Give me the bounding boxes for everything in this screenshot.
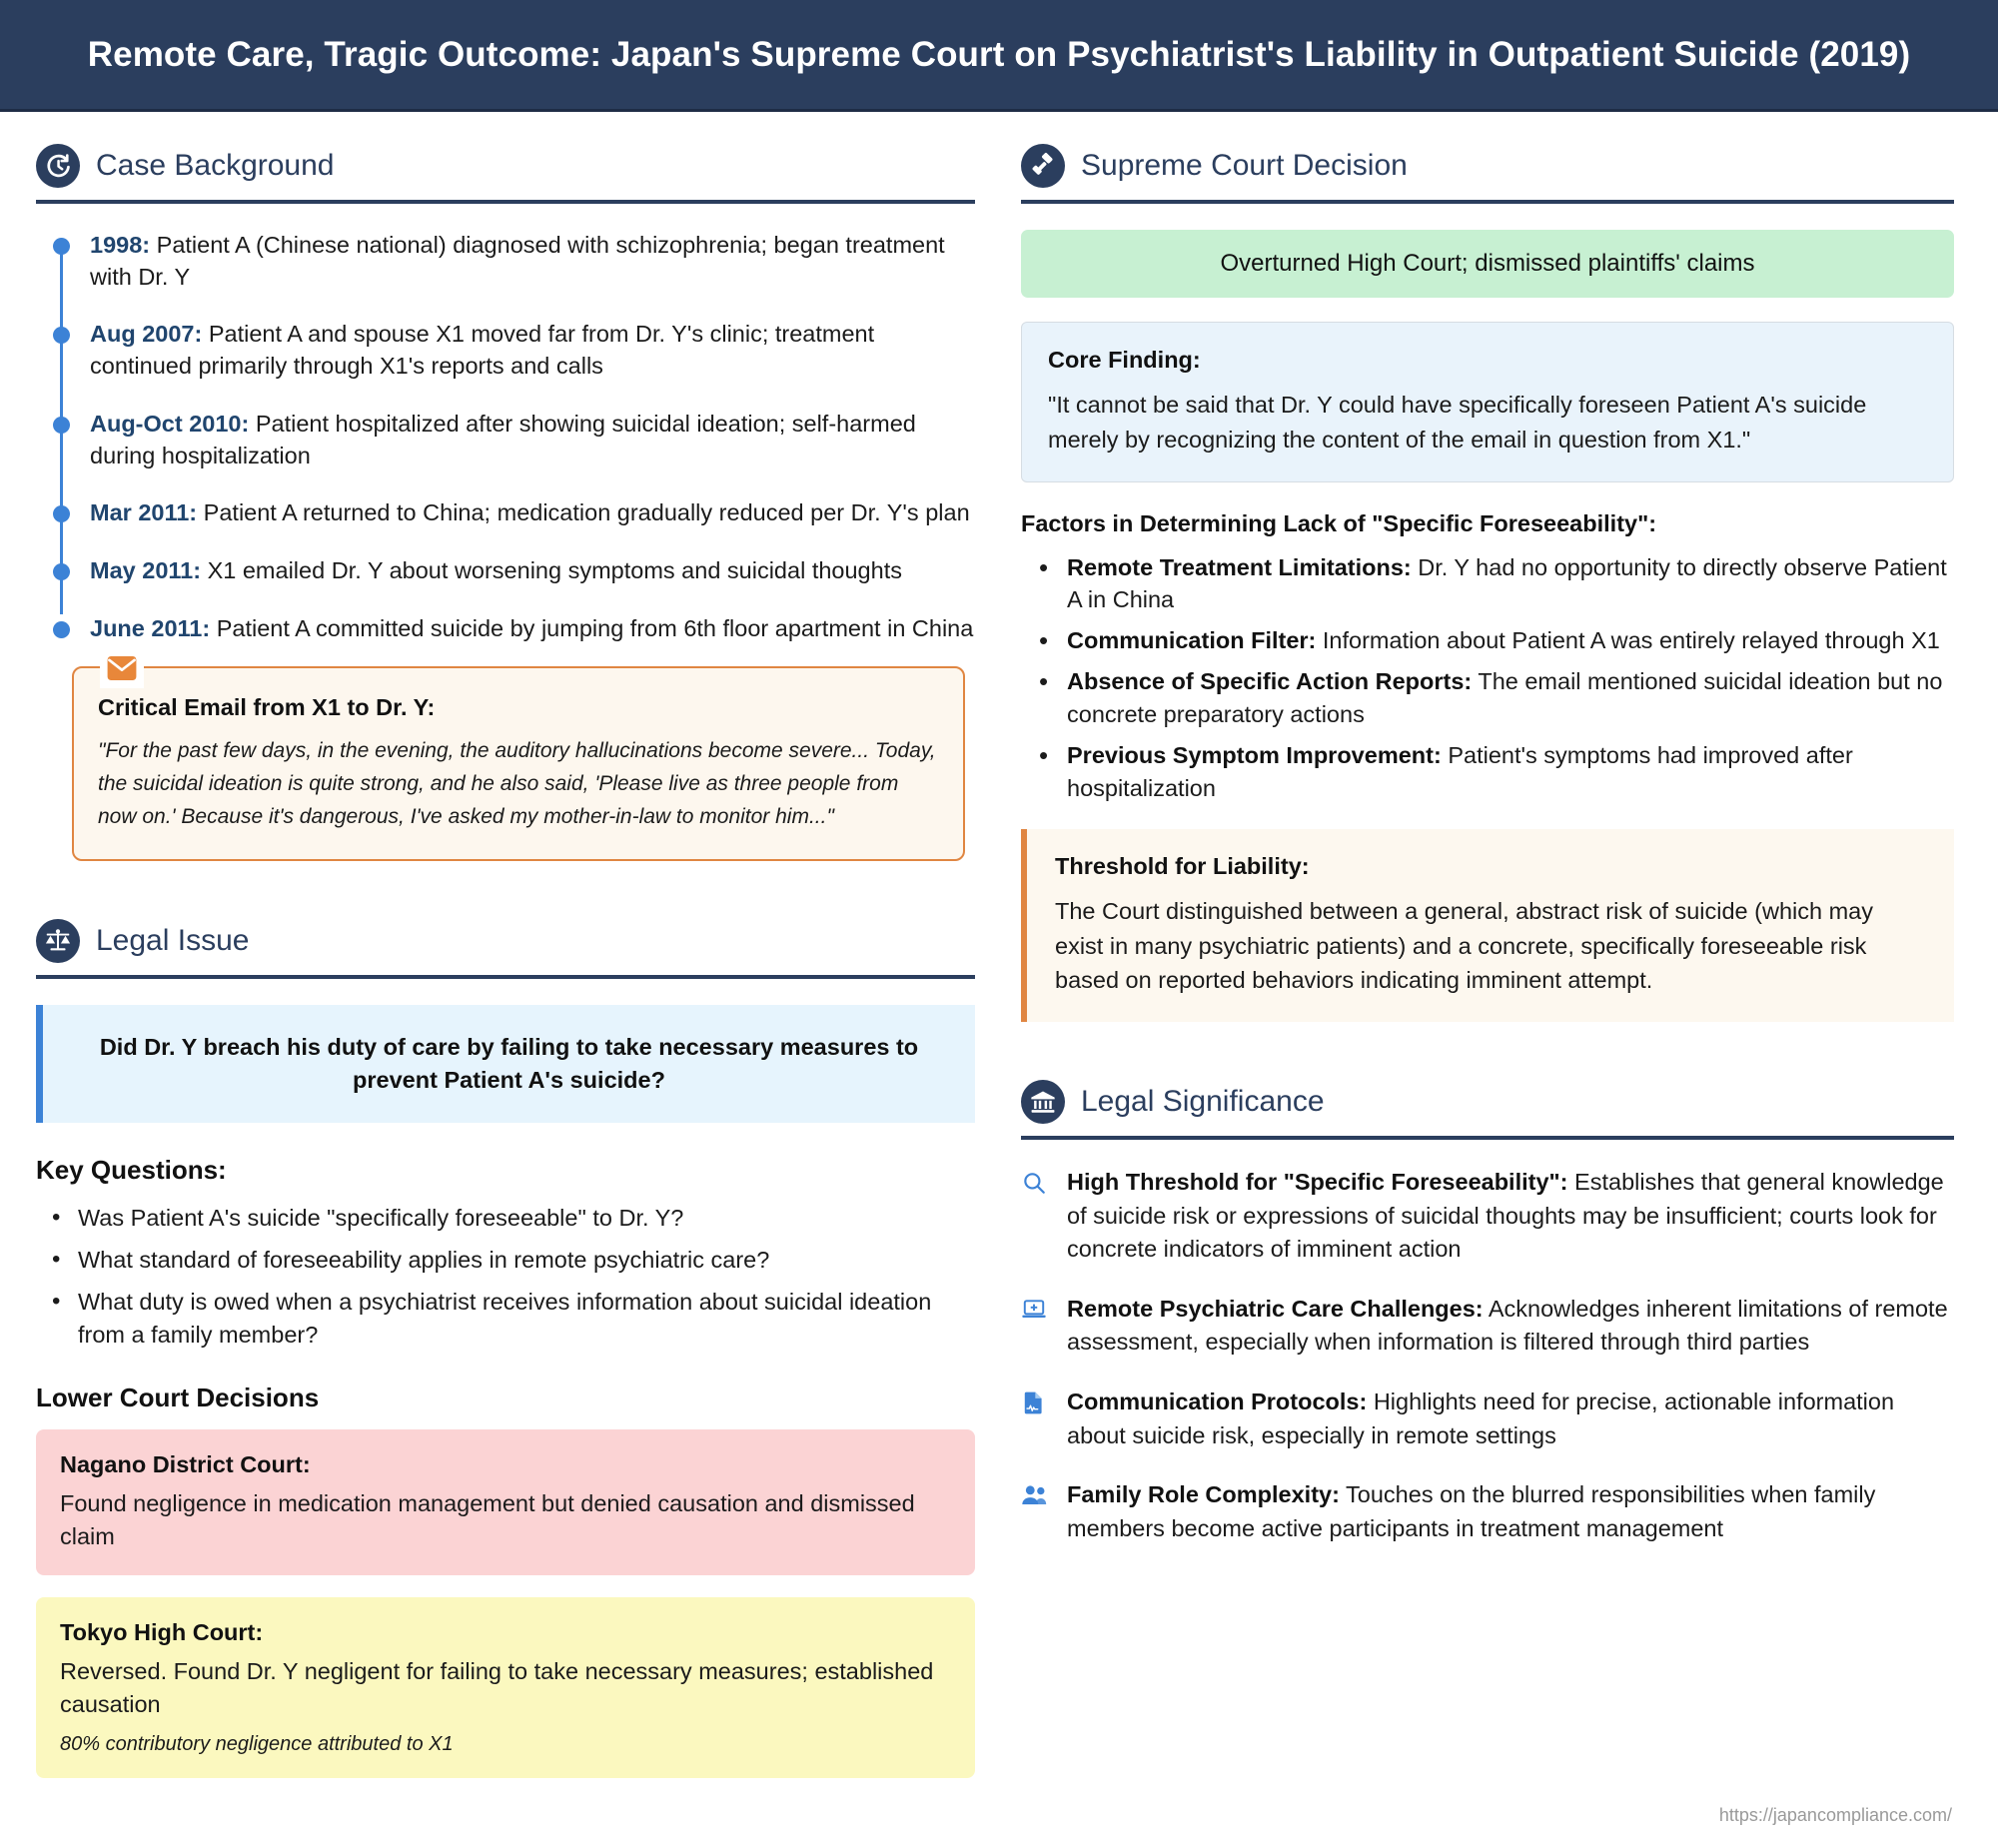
section-divider-legal-issue [36, 975, 975, 979]
lower-court-card-nagano: Nagano District Court: Found negligence … [36, 1429, 975, 1575]
case-timeline: 1998: Patient A (Chinese national) diagn… [46, 230, 975, 644]
left-column: Case Background 1998: Patient A (Chinese… [0, 112, 1011, 1800]
list-item: Previous Symptom Improvement: Patient's … [1035, 739, 1954, 805]
list-item: Was Patient A's suicide "specifically fo… [48, 1202, 975, 1235]
court-decision-text: Found negligence in medication managemen… [60, 1487, 951, 1553]
timeline-text: Patient A and spouse X1 moved far from D… [90, 321, 874, 379]
timeline-date: May 2011: [90, 557, 201, 583]
core-finding-title: Core Finding: [1048, 347, 1927, 374]
significance-text: Remote Psychiatric Care Challenges: Ackn… [1067, 1293, 1954, 1360]
section-header-legal-significance: Legal Significance [1021, 1080, 1954, 1124]
section-divider-legal-significance [1021, 1136, 1954, 1140]
timeline-date: June 2011: [90, 615, 210, 641]
key-questions-list: Was Patient A's suicide "specifically fo… [48, 1202, 975, 1352]
threshold-for-liability-box: Threshold for Liability: The Court disti… [1021, 829, 1954, 1022]
file-medical-icon [1021, 1386, 1051, 1452]
history-clock-icon [36, 144, 80, 188]
significance-name: Family Role Complexity: [1067, 1481, 1340, 1507]
laptop-medical-icon [1021, 1293, 1051, 1360]
threshold-text: The Court distinguished between a genera… [1055, 894, 1926, 998]
key-questions-heading: Key Questions: [36, 1155, 975, 1186]
verdict-banner: Overturned High Court; dismissed plainti… [1021, 230, 1954, 298]
section-divider-supreme-court [1021, 200, 1954, 204]
factor-name: Previous Symptom Improvement: [1067, 742, 1442, 768]
critical-email-title: Critical Email from X1 to Dr. Y: [98, 694, 937, 721]
factor-name: Communication Filter: [1067, 627, 1316, 653]
factors-heading: Factors in Determining Lack of "Specific… [1021, 510, 1954, 537]
magnifier-icon [1021, 1166, 1051, 1267]
footer-source-url: https://japancompliance.com/ [1719, 1805, 1952, 1826]
section-header-supreme-court: Supreme Court Decision [1021, 144, 1954, 188]
significance-name: Remote Psychiatric Care Challenges: [1067, 1296, 1484, 1322]
court-decision-text: Reversed. Found Dr. Y negligent for fail… [60, 1655, 951, 1721]
section-title-supreme-court: Supreme Court Decision [1081, 149, 1408, 183]
significance-text: Family Role Complexity: Touches on the b… [1067, 1478, 1954, 1545]
timeline-date: 1998: [90, 232, 150, 258]
list-item: High Threshold for "Specific Foreseeabil… [1021, 1166, 1954, 1267]
threshold-title: Threshold for Liability: [1055, 853, 1926, 880]
significance-name: Communication Protocols: [1067, 1388, 1367, 1414]
users-icon [1021, 1478, 1051, 1545]
two-column-body: Case Background 1998: Patient A (Chinese… [0, 112, 1998, 1800]
core-finding-box: Core Finding: "It cannot be said that Dr… [1021, 322, 1954, 482]
legal-significance-list: High Threshold for "Specific Foreseeabil… [1021, 1166, 1954, 1545]
significance-name: High Threshold for "Specific Foreseeabil… [1067, 1169, 1568, 1195]
spacer [1021, 1022, 1954, 1080]
section-header-legal-issue: Legal Issue [36, 919, 975, 963]
significance-text: High Threshold for "Specific Foreseeabil… [1067, 1166, 1954, 1267]
infographic-page: Remote Care, Tragic Outcome: Japan's Sup… [0, 0, 1998, 1848]
timeline-item: June 2011: Patient A committed suicide b… [90, 613, 975, 645]
section-header-case-background: Case Background [36, 144, 975, 188]
court-name: Tokyo High Court: [60, 1619, 951, 1646]
section-title-case-background: Case Background [96, 149, 334, 183]
list-item: Family Role Complexity: Touches on the b… [1021, 1478, 1954, 1545]
scales-of-justice-icon [36, 919, 80, 963]
factor-name: Absence of Specific Action Reports: [1067, 668, 1472, 694]
section-divider-case-background [36, 200, 975, 204]
legal-issue-question-box: Did Dr. Y breach his duty of care by fai… [36, 1005, 975, 1123]
timeline-item: May 2011: X1 emailed Dr. Y about worseni… [90, 555, 975, 587]
list-item: Communication Filter: Information about … [1035, 624, 1954, 657]
timeline-item: Aug 2007: Patient A and spouse X1 moved … [90, 319, 975, 382]
timeline-text: Patient A committed suicide by jumping f… [210, 615, 973, 641]
court-decision-note: 80% contributory negligence attributed t… [60, 1733, 951, 1756]
list-item: What duty is owed when a psychiatrist re… [48, 1286, 975, 1352]
section-title-legal-significance: Legal Significance [1081, 1085, 1325, 1119]
timeline-item: 1998: Patient A (Chinese national) diagn… [90, 230, 975, 293]
timeline-date: Aug 2007: [90, 321, 202, 347]
critical-email-callout: Critical Email from X1 to Dr. Y: "For th… [72, 666, 965, 861]
timeline-item: Aug-Oct 2010: Patient hospitalized after… [90, 409, 975, 471]
significance-text: Communication Protocols: Highlights need… [1067, 1386, 1954, 1452]
bank-building-icon [1021, 1080, 1065, 1124]
factor-name: Remote Treatment Limitations: [1067, 554, 1412, 580]
lower-court-card-tokyo: Tokyo High Court: Reversed. Found Dr. Y … [36, 1597, 975, 1778]
list-item: Absence of Specific Action Reports: The … [1035, 665, 1954, 731]
legal-issue-question: Did Dr. Y breach his duty of care by fai… [83, 1031, 935, 1097]
timeline-item: Mar 2011: Patient A returned to China; m… [90, 497, 975, 529]
core-finding-text: "It cannot be said that Dr. Y could have… [1048, 388, 1927, 458]
envelope-icon [100, 648, 144, 688]
section-title-legal-issue: Legal Issue [96, 924, 249, 958]
list-item: Communication Protocols: Highlights need… [1021, 1386, 1954, 1452]
spacer [36, 861, 975, 919]
page-header-banner: Remote Care, Tragic Outcome: Japan's Sup… [0, 0, 1998, 112]
timeline-date: Mar 2011: [90, 499, 197, 525]
timeline-date: Aug-Oct 2010: [90, 411, 249, 437]
list-item: Remote Psychiatric Care Challenges: Ackn… [1021, 1293, 1954, 1360]
gavel-icon [1021, 144, 1065, 188]
list-item: Remote Treatment Limitations: Dr. Y had … [1035, 551, 1954, 617]
timeline-text: X1 emailed Dr. Y about worsening symptom… [201, 557, 902, 583]
timeline-text: Patient A (Chinese national) diagnosed w… [90, 232, 945, 290]
timeline-text: Patient A returned to China; medication … [197, 499, 970, 525]
right-column: Supreme Court Decision Overturned High C… [1011, 112, 1998, 1800]
lower-courts-heading: Lower Court Decisions [36, 1383, 975, 1413]
critical-email-quote: "For the past few days, in the evening, … [98, 735, 937, 833]
factor-text: Information about Patient A was entirely… [1316, 627, 1939, 653]
court-name: Nagano District Court: [60, 1451, 951, 1478]
factors-list: Remote Treatment Limitations: Dr. Y had … [1035, 551, 1954, 805]
list-item: What standard of foreseeability applies … [48, 1244, 975, 1277]
page-title: Remote Care, Tragic Outcome: Japan's Sup… [88, 35, 1910, 75]
